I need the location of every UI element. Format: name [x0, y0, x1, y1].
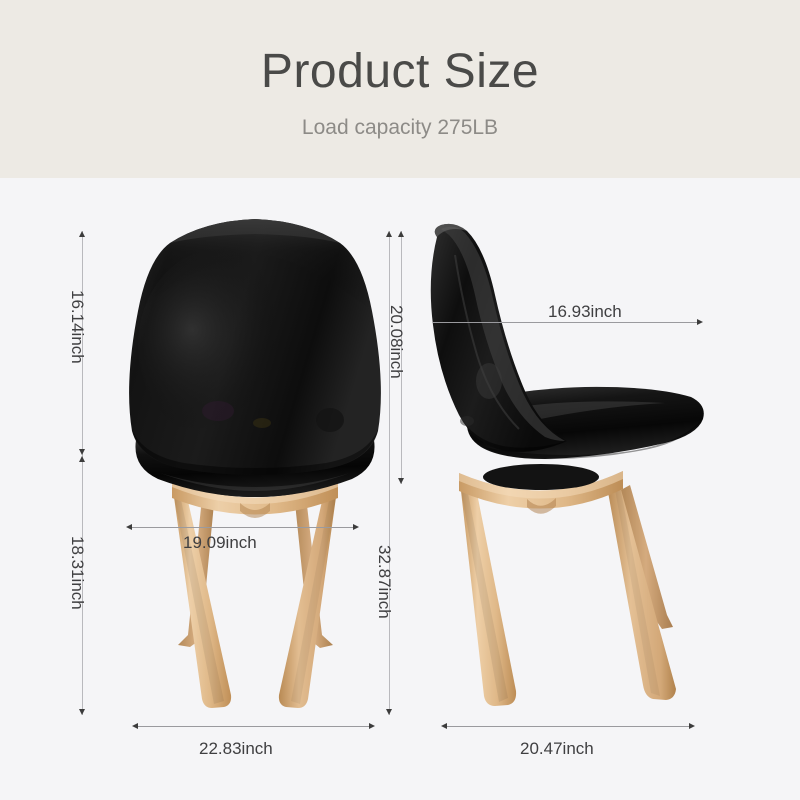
dim-label-backrest-height: 16.14inch [69, 290, 86, 364]
dim-arrow-right-inner-bottom [398, 478, 404, 484]
dim-arrow-overall-width-left [132, 723, 138, 729]
dim-arrow-seat-width-left [126, 524, 132, 530]
dim-label-seat-depth: 16.93inch [548, 303, 622, 320]
dim-line-seat-width [128, 527, 356, 528]
product-size-infographic: Product Size Load capacity 275LB [0, 0, 800, 800]
chair-front-view [100, 215, 410, 725]
dim-line-seat-depth [433, 322, 700, 323]
dim-line-overall-depth [443, 726, 692, 727]
dim-arrow-right-outer-top [386, 231, 392, 237]
dim-arrow-seat-depth-right [697, 319, 703, 325]
chair-side-view [415, 215, 715, 725]
dim-arrow-left-top [79, 231, 85, 237]
page-title: Product Size [0, 48, 800, 96]
dim-label-seat-height: 18.31inch [69, 536, 86, 610]
dim-label-overall-height: 32.87inch [376, 545, 393, 619]
dim-arrow-seat-width-right [353, 524, 359, 530]
dim-arrow-overall-depth-left [441, 723, 447, 729]
dim-guide-right-outer-vertical [389, 231, 390, 715]
dim-label-overall-width: 22.83inch [199, 740, 273, 757]
dim-arrow-left-bottom [79, 709, 85, 715]
dim-label-seat-width: 19.09inch [183, 534, 257, 551]
seat-base-plate-side [483, 464, 599, 490]
dim-arrow-overall-width-right [369, 723, 375, 729]
chair-front-legs [172, 480, 338, 708]
dim-label-overall-depth: 20.47inch [520, 740, 594, 757]
page-subtitle: Load capacity 275LB [0, 117, 800, 138]
dim-label-side-backrest-height: 20.08inch [388, 305, 405, 379]
dim-line-overall-width [134, 726, 372, 727]
dim-arrow-right-outer-bottom [386, 709, 392, 715]
chair-side-legs [459, 471, 676, 706]
dim-arrow-overall-depth-right [689, 723, 695, 729]
dim-arrow-left-mid-a [79, 449, 85, 455]
dim-arrow-right-inner-top [398, 231, 404, 237]
dim-arrow-left-mid-b [79, 456, 85, 462]
